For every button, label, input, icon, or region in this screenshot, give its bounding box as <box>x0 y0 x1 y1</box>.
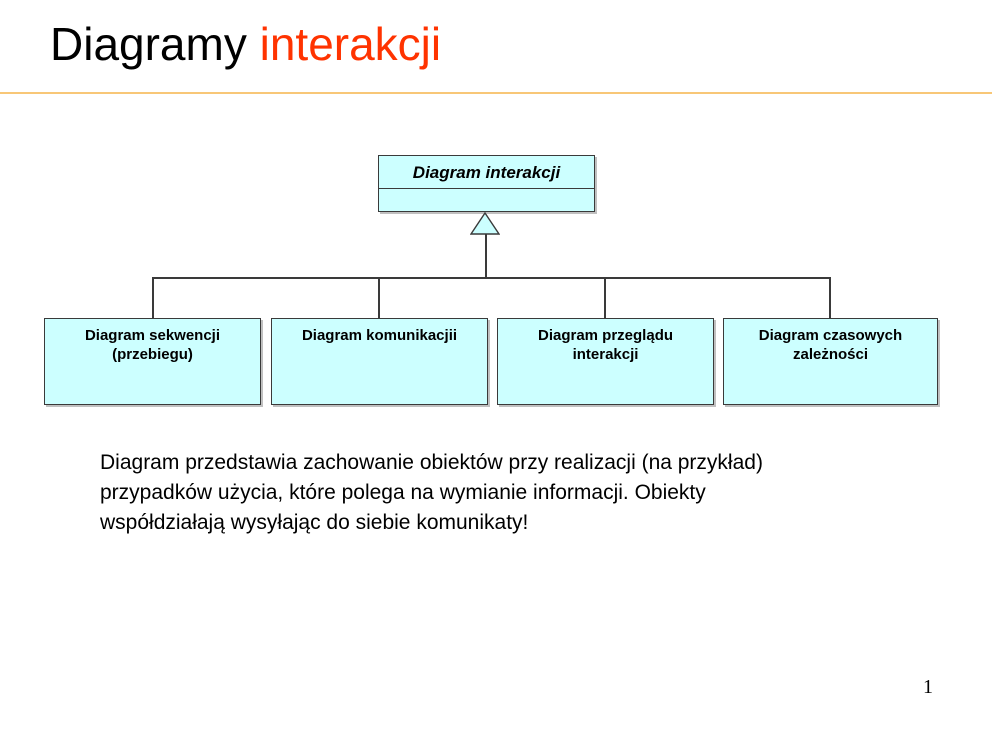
connector-drop-3 <box>604 278 606 319</box>
page-title: Diagramy interakcji <box>50 8 950 80</box>
uml-child-label-line1: Diagram komunikacjii <box>278 326 481 345</box>
connector-drop-2 <box>378 278 380 319</box>
title-divider-rule <box>0 92 992 94</box>
uml-child-box-sekwencji[interactable]: Diagram sekwencji (przebiegu) <box>44 318 261 405</box>
uml-root-title: Diagram interakcji <box>379 156 594 189</box>
uml-child-label-line1: Diagram przeglądu <box>504 326 707 345</box>
uml-child-box-czasowych[interactable]: Diagram czasowych zależności <box>723 318 938 405</box>
uml-child-label-przegladu: Diagram przeglądu interakcji <box>504 326 707 364</box>
page-title-main: Diagramy <box>50 18 260 70</box>
uml-child-box-przegladu[interactable]: Diagram przeglądu interakcji <box>497 318 714 405</box>
connector-drop-1 <box>152 278 154 319</box>
uml-child-label-sekwencji: Diagram sekwencji (przebiegu) <box>51 326 254 364</box>
connector-drop-4 <box>829 278 831 319</box>
connector-root-stem <box>485 234 487 278</box>
uml-child-box-komunikacji[interactable]: Diagram komunikacjii <box>271 318 488 405</box>
uml-child-label-line2: (przebiegu) <box>51 345 254 364</box>
uml-child-label-line2: interakcji <box>504 345 707 364</box>
uml-root-compartment <box>379 189 594 212</box>
uml-child-label-komunikacji: Diagram komunikacjii <box>278 326 481 345</box>
page-number: 1 <box>900 676 956 699</box>
page-title-accent: interakcji <box>260 18 442 70</box>
uml-child-label-line1: Diagram sekwencji <box>51 326 254 345</box>
uml-child-label-line1: Diagram czasowych <box>730 326 931 345</box>
uml-child-label-czasowych: Diagram czasowych zależności <box>730 326 931 364</box>
body-paragraph: Diagram przedstawia zachowanie obiektów … <box>100 448 780 538</box>
slide-canvas: Diagramy interakcji Diagram interakcji D… <box>0 0 992 744</box>
uml-child-label-line2: zależności <box>730 345 931 364</box>
generalization-arrow-icon <box>470 212 500 235</box>
uml-root-box[interactable]: Diagram interakcji <box>378 155 595 212</box>
connector-horizontal-bus <box>152 277 831 279</box>
